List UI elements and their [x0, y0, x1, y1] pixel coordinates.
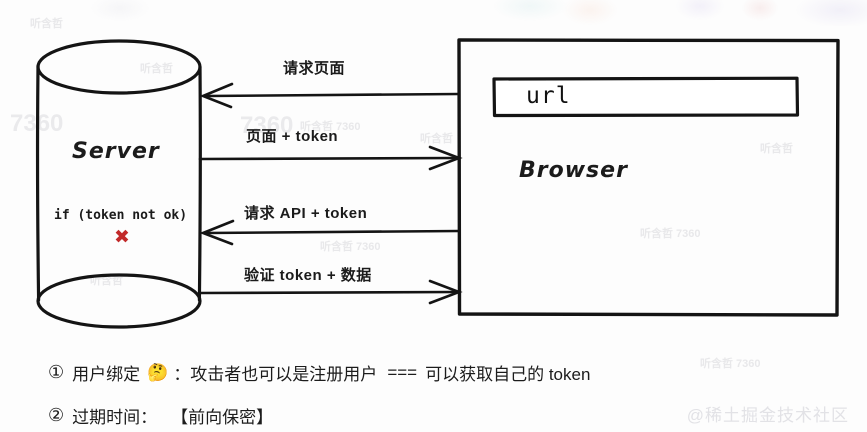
note-item-2: ② 过期时间： 【前向保密】 — [48, 403, 275, 428]
note-1-equals: === — [387, 363, 417, 383]
arrow-label-page-token: 页面 + token — [246, 125, 338, 146]
arrow-3-shaft — [206, 231, 459, 233]
arrow-request-page — [203, 84, 459, 107]
cylinder-left-wall — [38, 66, 39, 300]
note-2-number: ② — [48, 405, 64, 426]
url-input-value[interactable]: url — [526, 83, 571, 109]
arrow-label-request-page: 请求页面 — [283, 57, 345, 78]
note-1-text-part3: 可以获取自己的 token — [425, 360, 590, 385]
server-label: Server — [72, 139, 160, 164]
browser-label: Browser — [519, 158, 628, 183]
note-item-1: ① 用户绑定 🤔 ：攻击者也可以是注册用户 === 可以获取自己的 token — [48, 360, 592, 385]
cylinder-bottom-ellipse — [38, 275, 200, 327]
arrow-4-shaft — [200, 292, 455, 293]
arrow-1-shaft — [206, 94, 459, 96]
arrow-request-api — [203, 221, 459, 244]
cylinder-top-ellipse — [38, 41, 200, 93]
note-2-text-part1: 过期时间： — [72, 403, 157, 428]
thinking-face-icon: 🤔 — [147, 363, 168, 383]
red-x-icon: ✖ — [114, 226, 130, 248]
arrow-2-shaft — [200, 158, 455, 159]
server-condition-text: if (token not ok) — [54, 208, 187, 223]
arrow-page-plus-token — [200, 147, 459, 169]
arrow-label-request-api: 请求 API + token — [244, 202, 367, 223]
note-1-text-part1: 用户绑定 — [72, 360, 140, 385]
cylinder-right-wall — [199, 67, 200, 300]
arrow-label-verify-token: 验证 token + 数据 — [244, 264, 372, 285]
diagram-canvas: 736073607360听含哲听含哲 7360听含哲听含哲 7360听含哲听含哲… — [0, 0, 867, 432]
server-cylinder — [38, 41, 201, 327]
note-2-text-part2: 【前向保密】 — [171, 403, 273, 428]
note-1-number: ① — [48, 362, 64, 383]
note-1-text-part2: ：攻击者也可以是注册用户 — [173, 360, 377, 385]
